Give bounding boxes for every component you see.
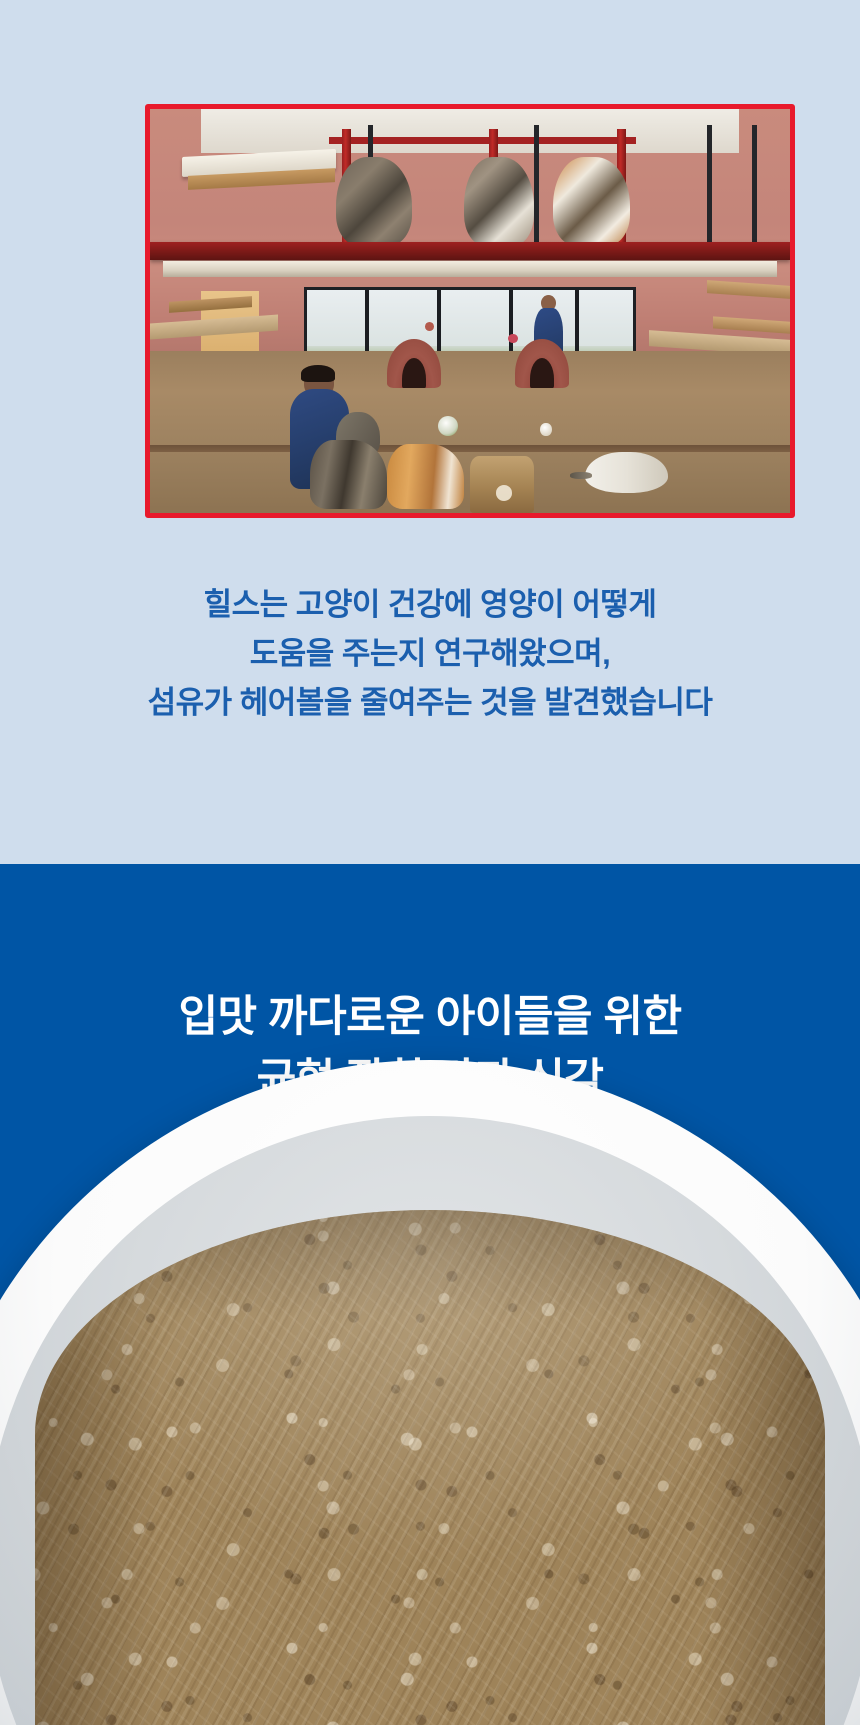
research-section: 힐스는 고양이 건강에 영양이 어떻게 도움을 주는지 연구해왔으며, 섬유가 … bbox=[0, 0, 860, 864]
window-sky bbox=[307, 290, 634, 346]
red-catwalk-beam bbox=[150, 242, 790, 260]
staff-hair bbox=[301, 365, 335, 382]
cat-tabby bbox=[310, 440, 387, 509]
research-copy: 힐스는 고양이 건강에 영양이 어떻게 도움을 주는지 연구해왔으며, 섬유가 … bbox=[0, 580, 860, 727]
window-mullion bbox=[752, 125, 757, 246]
taste-texture-section: 입맛 까다로운 아이들을 위한 균형 잡힌 맛과 식감 bbox=[0, 864, 860, 1725]
promo-page: 힐스는 고양이 건강에 영양이 어떻게 도움을 주는지 연구해왔으며, 섬유가 … bbox=[0, 0, 860, 1725]
window-mullion bbox=[707, 125, 712, 246]
promo-headline-line-1: 입맛 까다로운 아이들을 위한 bbox=[0, 986, 860, 1049]
pate-shading bbox=[35, 1210, 825, 1725]
cat-orange bbox=[387, 444, 464, 509]
floor-baseboard bbox=[150, 445, 790, 451]
research-copy-line-3: 섬유가 헤어볼을 줄여주는 것을 발견했습니다 bbox=[0, 678, 860, 727]
research-copy-line-2: 도움을 주는지 연구해왔으며, bbox=[0, 629, 860, 678]
catwalk-shelf bbox=[163, 261, 777, 278]
cat-food-pate-bowl bbox=[0, 1060, 860, 1725]
window-mullion bbox=[534, 125, 539, 246]
steel-beam bbox=[329, 137, 636, 143]
cat-toy-mouse bbox=[540, 423, 552, 437]
cat-on-catwalk bbox=[336, 157, 413, 246]
cat-white bbox=[585, 452, 668, 492]
cat-wellness-center-photo bbox=[145, 104, 795, 518]
paw-print-decal bbox=[496, 485, 513, 501]
cat-on-catwalk bbox=[553, 157, 630, 246]
ceiling bbox=[201, 109, 739, 153]
research-copy-line-1: 힐스는 고양이 건강에 영양이 어떻게 bbox=[0, 580, 860, 629]
pate-food bbox=[35, 1210, 825, 1725]
photo-inner bbox=[150, 109, 790, 513]
cat-on-catwalk bbox=[464, 157, 534, 246]
